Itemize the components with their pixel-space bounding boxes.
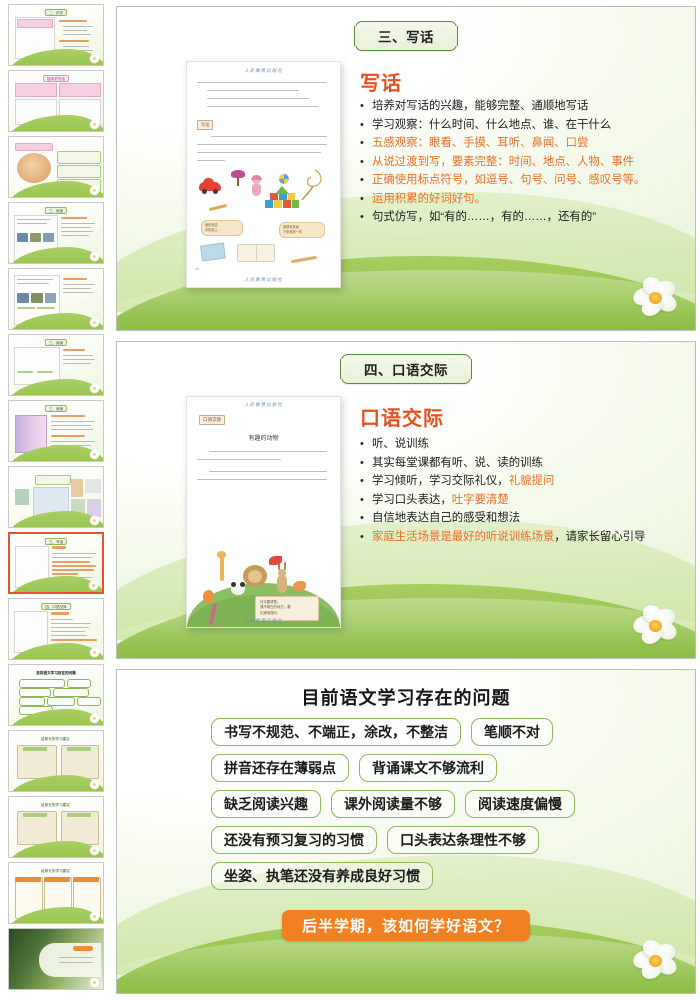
bullet-dot: • [360, 155, 372, 170]
problem-list: 书写不规范、不端正，涂改，不整洁 笔顺不对 拼音还存在薄弱点 背诵课文不够流利 … [117, 718, 695, 898]
toy-stick-illustration [209, 204, 227, 211]
flower-icon [90, 912, 99, 921]
flower-icon [90, 120, 99, 129]
list-item-text: 学习倾听，学习交际礼仪，礼貌提问 [372, 474, 645, 489]
flower-icon [90, 714, 99, 723]
thumb-problem-box [19, 679, 65, 688]
textbook-page-image: 人民教育出版社 口语交际 有趣的动物 吐字要清楚。 遇不明白的地方 [186, 396, 341, 628]
list-item: •五感观察：眼看、手摸、耳听、鼻闻、口尝 [360, 136, 645, 151]
bullet-dot: • [360, 192, 372, 207]
bullet-dot: • [360, 530, 372, 545]
slide-canvas-area[interactable]: 三、写话 人民教育出版社 写话 [116, 0, 700, 1000]
thumb-title: 目前语文学习存在的问题 [32, 669, 80, 676]
flower-icon [90, 318, 99, 327]
slide-thumbnail-6[interactable]: 三、阅读 [8, 334, 104, 396]
slide-thumbnail-10[interactable]: 四、口语交际 [8, 598, 104, 660]
thumb-badge: 二、识字 [45, 9, 67, 16]
thumb-chip [37, 307, 55, 309]
panda-illustration [231, 583, 245, 595]
bullet-dot: • [360, 99, 372, 114]
problem-row: 坐姿、执笔还没有养成良好习惯 [117, 862, 695, 890]
thumb-gallery-image [71, 479, 83, 497]
bullet-dot: • [360, 118, 372, 133]
slide-thumbnail-3[interactable] [8, 136, 104, 198]
list-item-text: 五感观察：眼看、手摸、耳听、鼻闻、口尝 [372, 136, 645, 151]
toy-doll-illustration [251, 176, 262, 196]
thumb-heading-line [63, 278, 87, 280]
thumb-chip [17, 371, 33, 373]
list-item-text: 其实每堂课都有听、说、读的训练 [372, 456, 645, 471]
problem-box: 书写不规范、不端正，涂改，不整洁 [211, 718, 461, 746]
note-line: 遇不明白的地方，要 [260, 605, 291, 609]
thumb-photo [30, 233, 41, 242]
flower-icon [90, 186, 99, 195]
bullet-dot: • [360, 210, 372, 225]
thumb-photo [45, 293, 56, 303]
bullet-dot: • [360, 437, 372, 452]
thumb-problem-box [19, 697, 45, 706]
thumb-chip [17, 307, 35, 309]
slide-thumbnail-sidebar[interactable]: 二、识字 独手的书法 三 [0, 0, 112, 1000]
slide-thumbnail-4[interactable]: 三、阅读 [8, 202, 104, 264]
flower-icon [633, 278, 679, 320]
flower-icon [90, 54, 99, 63]
list-item-text: 正确使用标点符号，如逗号、句号、问号、感叹号等。 [372, 173, 645, 188]
flower-icon [90, 846, 99, 855]
thumb-heading-line [61, 217, 87, 219]
pencil-illustration [291, 256, 317, 263]
slide-problems[interactable]: 目前语文学习存在的问题 书写不规范、不端正，涂改，不整洁 笔顺不对 拼音还存在薄… [116, 669, 696, 994]
publisher-mark: 人民教育出版社 [244, 618, 283, 624]
list-item: •正确使用标点符号，如逗号、句号、问号、感叹号等。 [360, 173, 645, 188]
slide-thumbnail-15[interactable] [8, 928, 104, 990]
thumb-text-line-orange [52, 561, 90, 563]
list-item-text: 家庭生活场景是最好的听说训练场景，请家长留心引导 [372, 530, 645, 545]
page-number: 15 [328, 607, 332, 611]
list-item-text: 运用积累的好词好句。 [372, 192, 645, 207]
lion-illustration [243, 565, 267, 587]
list-item: •听、说训练 [360, 437, 645, 452]
slide-thumbnail-9-selected[interactable]: 三、写话 [8, 532, 104, 594]
thumb-title: 给家长的学习建议 [37, 735, 74, 742]
thumb-badge: 四、口语交际 [41, 603, 71, 610]
slide-writing[interactable]: 三、写话 人民教育出版社 写话 [116, 6, 696, 331]
toy-blocks-illustration [265, 190, 299, 208]
thumb-photo [17, 293, 29, 303]
thumb-card-header [23, 813, 47, 817]
thumb-heading-line [63, 349, 85, 351]
toy-racket-illustration [299, 168, 325, 202]
flower-icon [90, 978, 99, 987]
slide-speaking[interactable]: 四、口语交际 人民教育出版社 口语交际 有趣的动物 吐字要清楚 [116, 341, 696, 659]
thumb-badge: 三、阅读 [45, 207, 67, 214]
thumb-photo [17, 153, 51, 183]
thumb-card-header [44, 877, 70, 882]
slide-thumbnail-12[interactable]: 给家长的学习建议 [8, 730, 104, 792]
problem-box: 坐姿、执笔还没有养成良好习惯 [211, 862, 433, 890]
list-item-text: 培养对写话的兴趣，能够完整、通顺地写话 [372, 99, 645, 114]
giraffe-illustration [217, 551, 227, 585]
slide-thumbnail-11[interactable]: 目前语文学习存在的问题 [8, 664, 104, 726]
list-item-text: 句式仿写，如“有的……，有的……，还有的” [372, 210, 645, 225]
flower-icon [90, 450, 99, 459]
problem-row: 还没有预习复习的习惯 口头表达条理性不够 [117, 826, 695, 854]
slide-thumbnail-1[interactable]: 二、识字 [8, 4, 104, 66]
thumb-text-line-orange [51, 639, 97, 641]
thumb-gallery-image [15, 489, 29, 505]
section-tag: 口语交际 [199, 415, 225, 425]
toy-car-illustration [199, 182, 221, 191]
cta-banner: 后半学期，该如何学好语文？ [282, 910, 530, 941]
thumb-title: 给家长的学习建议 [37, 801, 74, 808]
section-tag: 写话 [197, 120, 213, 130]
bullet-dot: • [360, 493, 372, 508]
thumb-badge [15, 143, 53, 151]
list-item-text: 学习观察：什么时间、什么地点、谁、在干什么 [372, 118, 645, 133]
toy-tree-illustration [231, 170, 245, 186]
list-item: •学习观察：什么时间、什么地点、谁、在干什么 [360, 118, 645, 133]
bullet-dot: • [360, 511, 372, 526]
list-item-text: 听、说训练 [372, 437, 645, 452]
animal-illustration: 吐字要清楚。 遇不明白的地方，要 礼貌地提问。 [187, 517, 340, 627]
lesson-title: 有趣的动物 [248, 433, 278, 442]
thumb-card-header [73, 877, 99, 882]
thumb-problem-box [53, 688, 89, 697]
thumb-text-line-orange [52, 569, 94, 571]
thumb-badge: 独手的书法 [43, 75, 69, 82]
problem-box: 背诵课文不够流利 [359, 754, 497, 782]
thumb-chip [37, 371, 53, 373]
publisher-mark: 人民教育出版社 [244, 277, 283, 283]
flower-icon [90, 648, 99, 657]
bullet-dot: • [360, 136, 372, 151]
bullet-dot: • [360, 474, 372, 489]
speech-bubble: 我把玩具画下来看看一样 [279, 222, 325, 238]
publisher-mark: 人民教育出版社 [244, 402, 283, 408]
thumb-photo [43, 233, 54, 242]
thumb-card-header [23, 747, 47, 751]
list-item: •句式仿写，如“有的……，有的……，还有的” [360, 210, 645, 225]
thumb-badge: 三、阅读 [45, 405, 67, 412]
section-badge: 四、口语交际 [341, 354, 471, 384]
bullet-dot: • [360, 173, 372, 188]
thumb-card [57, 151, 101, 164]
list-item: •家庭生活场景是最好的听说训练场景，请家长留心引导 [360, 530, 645, 545]
thumb-gallery-image [85, 479, 101, 493]
problem-row: 书写不规范、不端正，涂改，不整洁 笔顺不对 [117, 718, 695, 746]
list-item-text: 学习口头表达，吐字要清楚 [372, 493, 645, 508]
slide-thumbnail-14[interactable]: 给家长的学习建议 [8, 862, 104, 924]
slide-thumbnail-8[interactable] [8, 466, 104, 528]
textbook-page-image: 人民教育出版社 写话 [186, 61, 341, 288]
slide-thumbnail-2[interactable]: 独手的书法 [8, 70, 104, 132]
thumb-heading-line [52, 546, 66, 549]
slide-thumbnail-5[interactable] [8, 268, 104, 330]
fox-illustration [293, 581, 306, 591]
problem-box: 课外阅读量不够 [331, 790, 455, 818]
toy-ball-illustration [279, 174, 289, 184]
bullet-list: •培养对写话的兴趣，能够完整、通顺地写话 •学习观察：什么时间、什么地点、谁、在… [360, 99, 645, 229]
problem-row: 缺乏阅读兴趣 课外阅读量不够 阅读速度偏慢 [117, 790, 695, 818]
note-line: 礼貌地提问。 [260, 611, 280, 615]
thumb-problem-box [77, 697, 101, 706]
thumb-title: 给家长的学习建议 [37, 867, 74, 874]
problem-row: 拼音还存在薄弱点 背诵课文不够流利 [117, 754, 695, 782]
deer-illustration [275, 567, 289, 593]
parrot-illustration [269, 556, 282, 565]
flower-icon [90, 780, 99, 789]
slide-heading: 写话 [360, 67, 402, 96]
thumb-badge [35, 475, 71, 485]
list-item: •学习口头表达，吐字要清楚 [360, 493, 645, 508]
problem-box: 阅读速度偏慢 [465, 790, 575, 818]
flower-icon [89, 581, 98, 590]
thumb-image-caption [17, 19, 53, 28]
open-book-illustration [237, 244, 275, 262]
flower-icon [90, 384, 99, 393]
thumb-problem-box [67, 679, 91, 688]
thumb-heading-line [51, 435, 85, 437]
thumb-card-header [67, 747, 91, 751]
flower-icon [633, 941, 679, 983]
flower-icon [90, 516, 99, 525]
slide-thumbnail-7[interactable]: 三、阅读 [8, 400, 104, 462]
problem-box: 缺乏阅读兴趣 [211, 790, 321, 818]
flower-icon [90, 252, 99, 261]
thumb-card-header [15, 877, 41, 882]
thumb-pink-panel [15, 83, 57, 97]
list-item: •学习倾听，学习交际礼仪，礼貌提问 [360, 474, 645, 489]
cta-container: 后半学期，该如何学好语文？ [117, 910, 695, 941]
notebook-illustration [200, 242, 226, 261]
list-item: •从说过渡到写，要素完整：时间、地点、人物、事件 [360, 155, 645, 170]
problem-box: 拼音还存在薄弱点 [211, 754, 349, 782]
problem-box: 还没有预习复习的习惯 [211, 826, 377, 854]
thumb-pink-panel [59, 83, 101, 97]
thumb-badge: 三、写话 [45, 538, 67, 545]
thumb-photo [17, 233, 28, 242]
list-item: •自信地表达自己的感受和想法 [360, 511, 645, 526]
slide-heading: 口语交际 [360, 402, 444, 431]
thumb-heading-line [51, 415, 85, 417]
bullet-list: •听、说训练 •其实每堂课都有听、说、读的训练 •学习倾听，学习交际礼仪，礼貌提… [360, 437, 645, 548]
thumb-text-line-orange [52, 565, 96, 567]
thumb-photo [31, 293, 43, 303]
thumb-chip [73, 946, 93, 951]
thumb-badge: 三、阅读 [45, 339, 67, 346]
bullet-dot: • [360, 456, 372, 471]
thumb-text-line-orange [52, 573, 78, 575]
section-badge: 三、写话 [355, 21, 457, 51]
page-title: 目前语文学习存在的问题 [117, 684, 695, 710]
page-number: 40 [195, 267, 199, 271]
list-item: •运用积累的好词好句。 [360, 192, 645, 207]
slide-thumbnail-13[interactable]: 给家长的学习建议 [8, 796, 104, 858]
thumb-heading-line [59, 40, 89, 42]
thumb-heading-line [51, 612, 69, 615]
squirrel-illustration [203, 590, 214, 603]
list-item: •其实每堂课都有听、说、读的训练 [360, 456, 645, 471]
flower-icon [633, 606, 679, 648]
problem-box: 笔顺不对 [471, 718, 553, 746]
speech-bubble: 我的玩具手机机上… [201, 220, 243, 236]
list-item-text: 从说过渡到写，要素完整：时间、地点、人物、事件 [372, 155, 645, 170]
problem-box: 口头表达条理性不够 [387, 826, 539, 854]
thumb-heading-line [59, 20, 87, 22]
thumb-card-header [67, 813, 91, 817]
note-line: 吐字要清楚。 [260, 600, 280, 604]
list-item-text: 自信地表达自己的感受和想法 [372, 511, 645, 526]
thumb-problem-box [19, 688, 51, 697]
thumb-card [57, 165, 101, 178]
thumb-problem-box [47, 697, 75, 706]
list-item: •培养对写话的兴趣，能够完整、通顺地写话 [360, 99, 645, 114]
publisher-mark: 人民教育出版社 [244, 68, 283, 74]
